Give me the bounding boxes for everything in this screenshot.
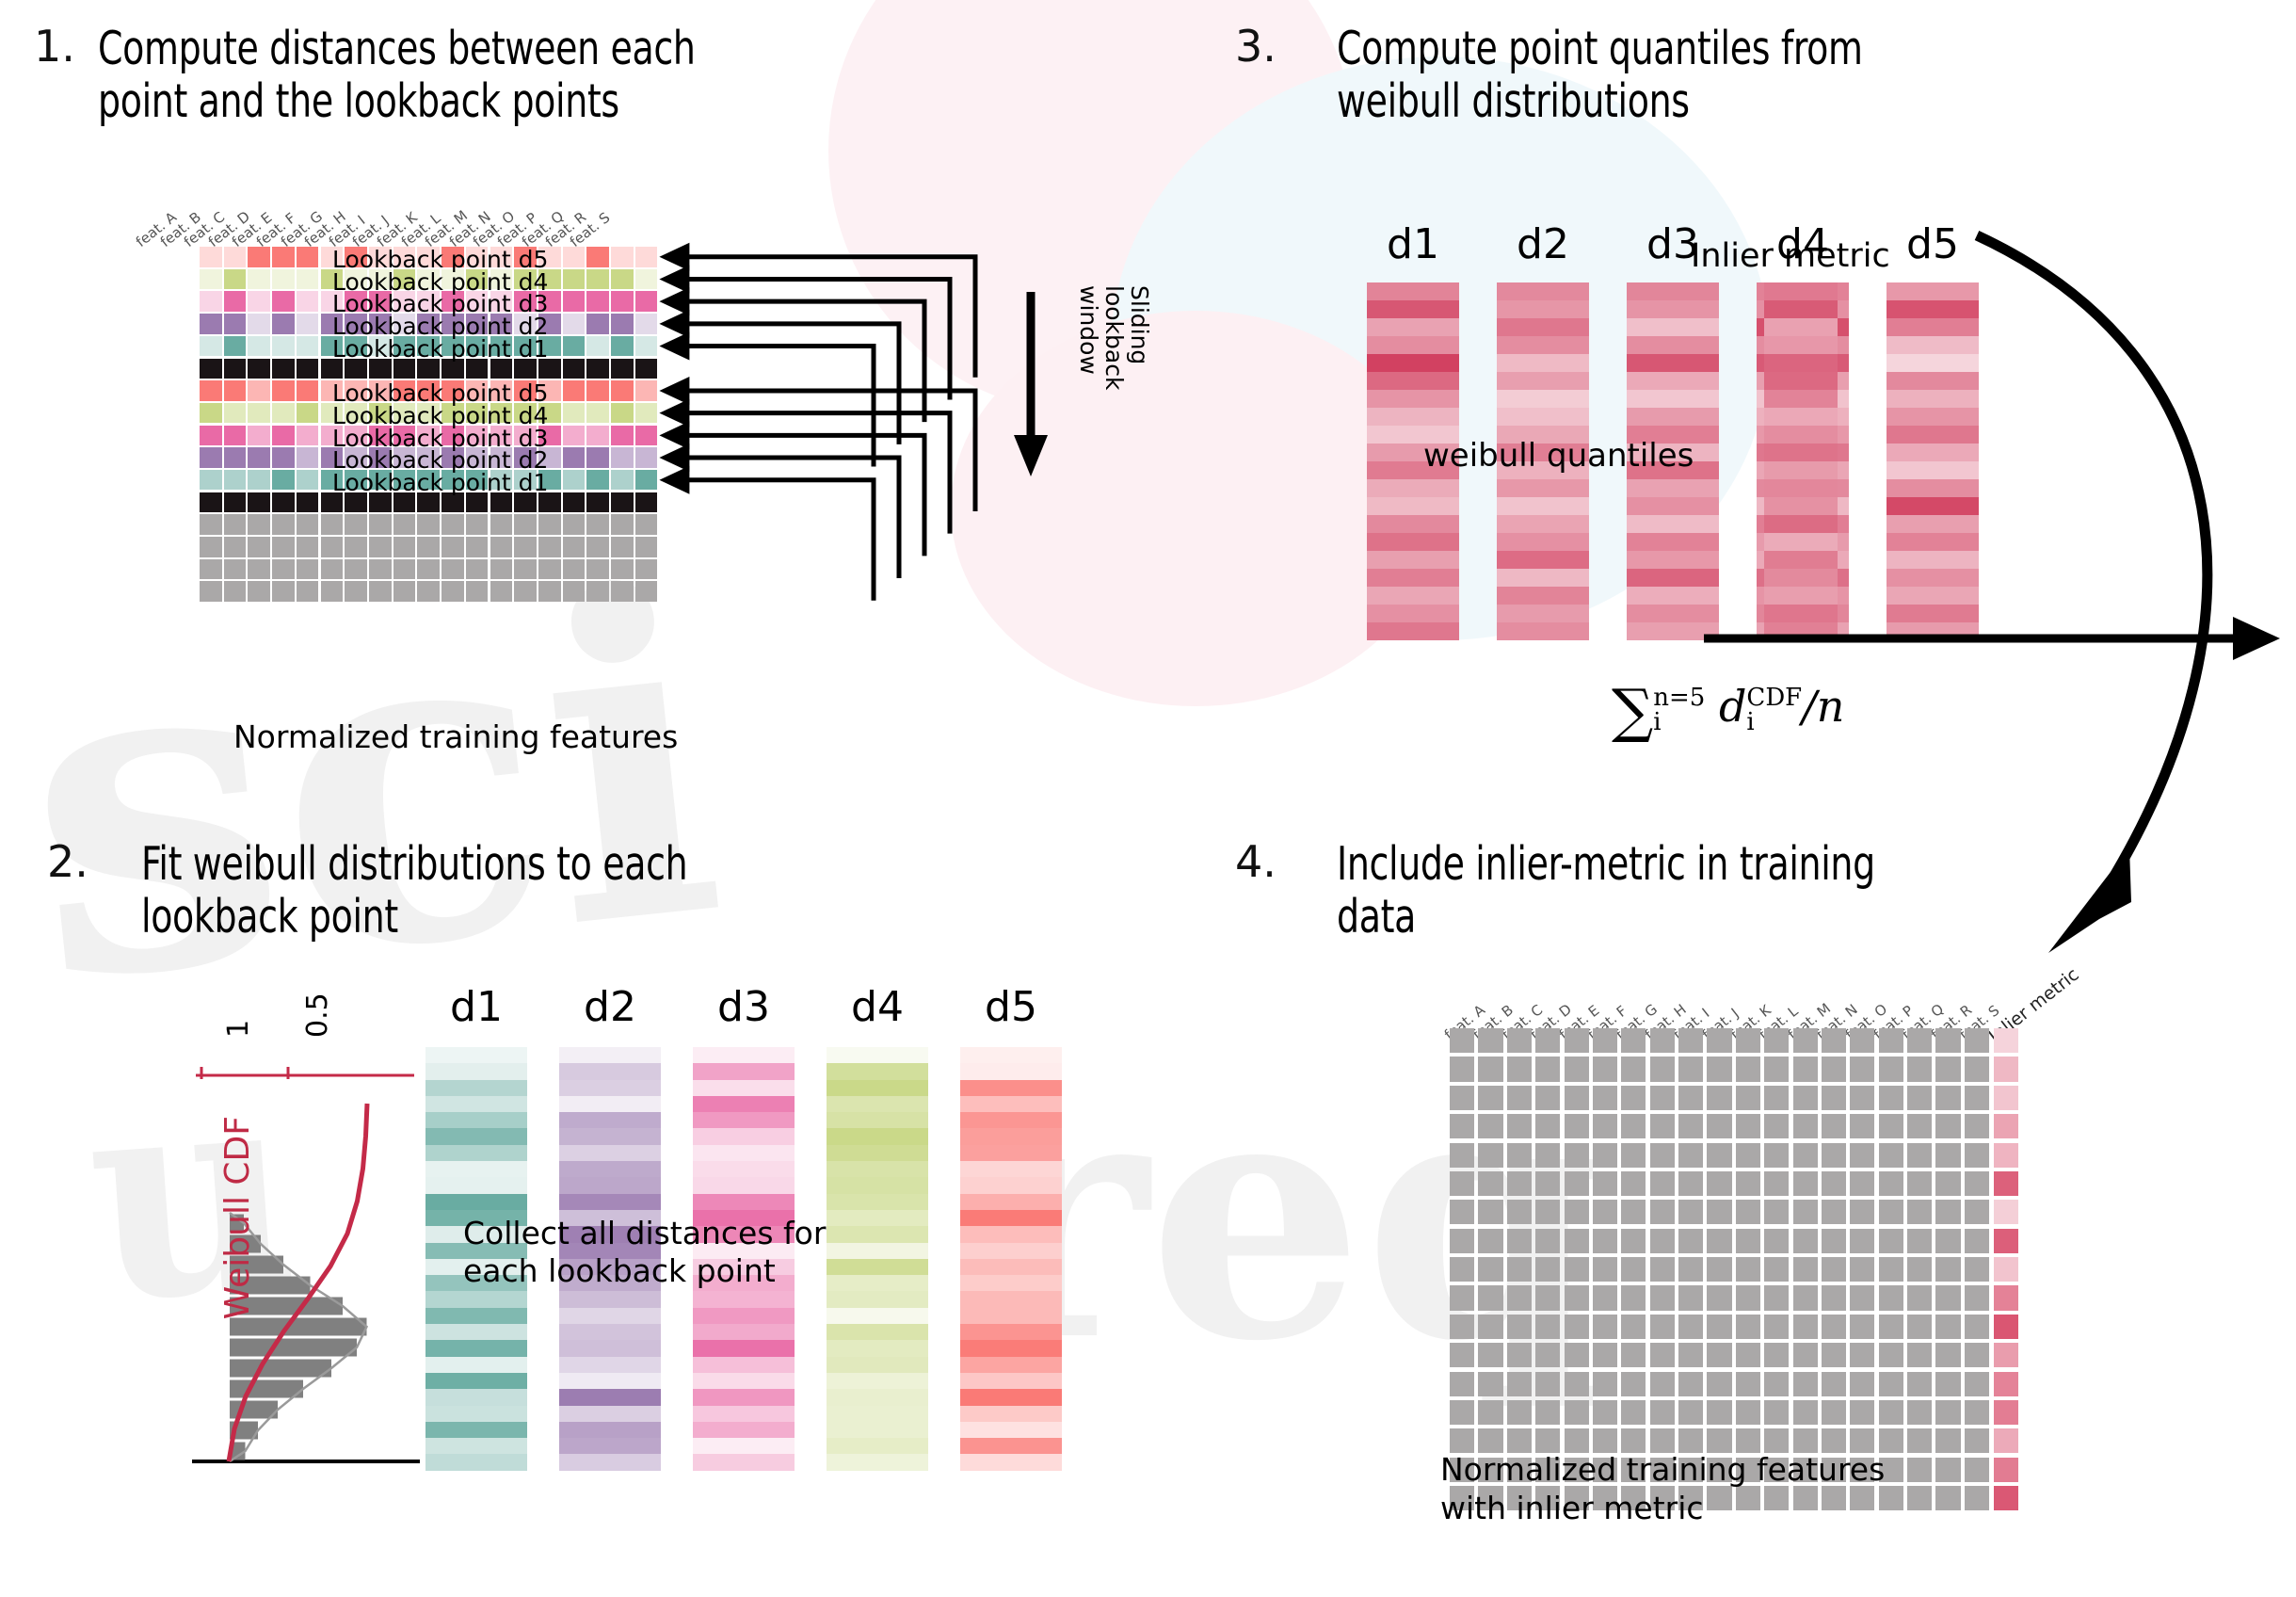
training-cell	[1736, 1143, 1760, 1168]
training-cell	[1565, 1372, 1589, 1396]
distance-bar	[960, 1291, 1062, 1307]
training-cell	[1593, 1400, 1617, 1425]
inlier-bar	[1764, 354, 1838, 372]
step-4-training-grid	[1450, 1028, 1989, 1510]
distance-bar	[693, 1177, 795, 1193]
grid-cell	[200, 447, 222, 468]
grid-cell	[248, 359, 270, 379]
grid-cell	[586, 581, 609, 602]
training-cell	[1764, 1229, 1789, 1253]
quantile-bar	[1367, 300, 1459, 318]
training-cell	[1621, 1143, 1646, 1168]
distance-bar	[827, 1145, 928, 1161]
training-cell	[1736, 1086, 1760, 1110]
distance-bar	[693, 1357, 795, 1373]
inlier-metric-cell	[1994, 1200, 2018, 1224]
training-cell	[1935, 1257, 1960, 1282]
histogram-bar	[230, 1380, 303, 1398]
training-cell	[1793, 1086, 1818, 1110]
step-3-title: Compute point quantiles from weibull dis…	[1337, 23, 2065, 128]
grid-cell	[248, 247, 270, 267]
training-cell	[1822, 1315, 1846, 1339]
training-cell	[1822, 1229, 1846, 1253]
training-cell	[1965, 1229, 1989, 1253]
training-cell	[1907, 1143, 1932, 1168]
distance-bar	[693, 1096, 795, 1112]
grid-cell	[611, 336, 634, 357]
grid-cell	[442, 559, 464, 580]
training-cell	[1907, 1315, 1932, 1339]
distance-bar	[693, 1406, 795, 1422]
training-cell	[1678, 1372, 1703, 1396]
training-cell	[1621, 1171, 1646, 1196]
training-cell	[1850, 1114, 1874, 1138]
distance-bar	[559, 1357, 661, 1373]
training-cell	[1965, 1086, 1989, 1110]
distance-bar	[693, 1112, 795, 1128]
distance-bar	[693, 1194, 795, 1210]
training-cell	[1565, 1257, 1589, 1282]
grid-cell	[345, 537, 367, 557]
quantile-bar	[1367, 318, 1459, 336]
training-cell	[1507, 1143, 1532, 1168]
training-cell	[1535, 1086, 1560, 1110]
training-cell	[1935, 1028, 1960, 1053]
histogram-bar	[230, 1318, 367, 1336]
grid-cell	[272, 269, 295, 290]
grid-cell	[611, 514, 634, 535]
sliding-window-arrow	[1012, 292, 1050, 480]
grid-cell	[224, 336, 247, 357]
training-cell	[1822, 1086, 1846, 1110]
distance-bar	[960, 1373, 1062, 1389]
grid-cell	[586, 559, 609, 580]
distance-bar	[559, 1406, 661, 1422]
distance-bar	[425, 1308, 527, 1324]
grid-cell	[611, 291, 634, 312]
training-cell	[1965, 1114, 1989, 1138]
training-cell	[1879, 1315, 1903, 1339]
training-cell	[1678, 1315, 1703, 1339]
training-cell	[1650, 1257, 1675, 1282]
training-cell	[1736, 1257, 1760, 1282]
quantile-bar	[1627, 300, 1719, 318]
distance-bar	[425, 1047, 527, 1063]
distance-bar	[827, 1210, 928, 1226]
distance-bar	[960, 1096, 1062, 1112]
training-cell	[1535, 1285, 1560, 1310]
quantile-bar	[1367, 372, 1459, 390]
training-cell	[1793, 1171, 1818, 1196]
lookback-arrow-top-1	[687, 279, 950, 399]
training-cell	[1907, 1200, 1932, 1224]
grid-cell	[586, 247, 609, 267]
training-cell	[1650, 1400, 1675, 1425]
distance-bar	[827, 1128, 928, 1144]
quantile-bar	[1497, 282, 1589, 300]
distance-bar	[827, 1047, 928, 1063]
training-cell	[1565, 1400, 1589, 1425]
distance-bar	[693, 1324, 795, 1340]
training-cell	[1907, 1257, 1932, 1282]
grid-cell	[514, 537, 537, 557]
grid-cell	[248, 380, 270, 401]
grid-cell	[272, 359, 295, 379]
training-cell	[1764, 1372, 1789, 1396]
distance-bar	[559, 1047, 661, 1063]
grid-cell	[514, 559, 537, 580]
grid-cell	[466, 537, 489, 557]
training-cell	[1678, 1285, 1703, 1310]
quantile-bar	[1497, 622, 1589, 640]
training-cell	[1621, 1086, 1646, 1110]
training-cell	[1793, 1200, 1818, 1224]
distance-bar	[559, 1096, 661, 1112]
training-cell	[1907, 1343, 1932, 1367]
quantile-bar	[1367, 569, 1459, 587]
distance-bar	[827, 1194, 928, 1210]
training-cell	[1793, 1343, 1818, 1367]
training-cell	[1822, 1114, 1846, 1138]
grid-cell	[224, 447, 247, 468]
training-cell	[1450, 1057, 1474, 1081]
training-cell	[1535, 1400, 1560, 1425]
training-cell	[1793, 1400, 1818, 1425]
training-cell	[1535, 1171, 1560, 1196]
inlier-metric-cell	[1994, 1114, 2018, 1138]
grid-cell	[369, 559, 392, 580]
distance-bar	[960, 1226, 1062, 1242]
training-cell	[1965, 1057, 1989, 1081]
training-cell	[1593, 1200, 1617, 1224]
grid-cell	[297, 470, 319, 491]
training-cell	[1650, 1285, 1675, 1310]
training-cell	[1793, 1372, 1818, 1396]
training-cell	[1478, 1285, 1502, 1310]
distance-bar	[559, 1112, 661, 1128]
distance-bar	[960, 1275, 1062, 1291]
training-cell	[1965, 1400, 1989, 1425]
training-cell	[1707, 1057, 1731, 1081]
cdf-tick-1: 1	[222, 1020, 255, 1038]
training-cell	[1707, 1372, 1731, 1396]
grid-cell	[297, 514, 319, 535]
training-cell	[1621, 1057, 1646, 1081]
grid-cell	[586, 291, 609, 312]
grid-cell	[200, 537, 222, 557]
grid-cell	[490, 514, 513, 535]
grid-cell	[611, 581, 634, 602]
quantile-bar	[1497, 605, 1589, 622]
step-1-title: Compute distances between each point and…	[98, 23, 746, 128]
training-cell	[1678, 1143, 1703, 1168]
grid-cell	[563, 559, 586, 580]
training-cell	[1450, 1372, 1474, 1396]
grid-cell	[200, 380, 222, 401]
step-2-header-d1: d1	[425, 983, 527, 1031]
grid-cell	[586, 447, 609, 468]
lookback-arrow-bottom-3	[687, 458, 899, 578]
training-cell	[1507, 1086, 1532, 1110]
training-cell	[1935, 1428, 1960, 1453]
grid-cell	[563, 269, 586, 290]
quantile-bar	[1497, 533, 1589, 551]
grid-cell	[224, 559, 247, 580]
distance-bar	[425, 1291, 527, 1307]
distance-bar	[693, 1340, 795, 1356]
training-cell	[1650, 1229, 1675, 1253]
training-cell	[1707, 1143, 1731, 1168]
grid-cell	[224, 403, 247, 424]
grid-cell	[224, 426, 247, 446]
training-cell	[1793, 1229, 1818, 1253]
training-cell	[1450, 1400, 1474, 1425]
step-1-remaining-rows	[200, 514, 657, 602]
training-cell	[1822, 1028, 1846, 1053]
grid-cell	[635, 403, 658, 424]
quantile-bar	[1367, 336, 1459, 354]
histogram-bar	[230, 1360, 331, 1378]
grid-cell	[417, 514, 440, 535]
training-cell	[1822, 1171, 1846, 1196]
quantile-bar	[1367, 390, 1459, 408]
grid-cell	[224, 314, 247, 334]
inlier-metric-cell	[1994, 1257, 2018, 1282]
training-cell	[1565, 1229, 1589, 1253]
grid-cell	[635, 514, 658, 535]
training-cell	[1764, 1028, 1789, 1053]
grid-cell	[248, 269, 270, 290]
training-cell	[1793, 1143, 1818, 1168]
training-cell	[1850, 1086, 1874, 1110]
training-cell	[1907, 1171, 1932, 1196]
training-cell	[1965, 1428, 1989, 1453]
grid-cell	[635, 559, 658, 580]
inlier-bar	[1764, 426, 1838, 444]
inlier-metric-cell	[1994, 1428, 2018, 1453]
inlier-bar	[1764, 318, 1838, 336]
training-cell	[1478, 1343, 1502, 1367]
distance-bar	[960, 1324, 1062, 1340]
distance-bar	[693, 1145, 795, 1161]
step-2-title: Fit weibull distributions to each lookba…	[141, 838, 805, 944]
training-cell	[1736, 1229, 1760, 1253]
training-cell	[1793, 1028, 1818, 1053]
training-cell	[1478, 1315, 1502, 1339]
quantile-bar	[1497, 336, 1589, 354]
distance-bar	[559, 1128, 661, 1144]
distance-bar	[827, 1177, 928, 1193]
grid-cell	[442, 537, 464, 557]
training-cell	[1450, 1315, 1474, 1339]
training-cell	[1965, 1343, 1989, 1367]
distance-bar	[827, 1096, 928, 1112]
distance-bar	[960, 1308, 1062, 1324]
grid-cell	[611, 380, 634, 401]
sliding-window-label: Sliding lookback window	[1076, 285, 1152, 390]
training-cell	[1535, 1143, 1560, 1168]
training-cell	[1650, 1028, 1675, 1053]
inlier-metric-strip	[1764, 282, 1838, 640]
training-cell	[1736, 1343, 1760, 1367]
grid-cell	[563, 447, 586, 468]
quantile-bar	[1497, 551, 1589, 569]
grid-cell	[248, 336, 270, 357]
distance-bar	[425, 1161, 527, 1177]
training-cell	[1507, 1229, 1532, 1253]
training-cell	[1621, 1372, 1646, 1396]
quantile-bar	[1627, 479, 1719, 497]
training-cell	[1565, 1285, 1589, 1310]
lookback-row-label-top-4: Lookback point d1	[332, 337, 548, 361]
lookback-arrow-top-1-head	[659, 265, 689, 293]
inlier-metric-cell	[1994, 1285, 2018, 1310]
quantile-bar	[1627, 515, 1719, 533]
grid-cell	[586, 537, 609, 557]
distance-bar	[960, 1340, 1062, 1356]
grid-cell	[490, 559, 513, 580]
quantile-bar	[1627, 318, 1719, 336]
training-cell	[1764, 1143, 1789, 1168]
grid-cell	[635, 291, 658, 312]
grid-cell	[297, 426, 319, 446]
grid-cell	[611, 559, 634, 580]
training-cell	[1707, 1086, 1731, 1110]
distance-bar	[559, 1454, 661, 1470]
training-cell	[1707, 1285, 1731, 1310]
distance-bar	[425, 1340, 527, 1356]
quantile-bar	[1627, 408, 1719, 426]
training-cell	[1793, 1114, 1818, 1138]
distance-bar	[960, 1389, 1062, 1405]
training-cell	[1850, 1200, 1874, 1224]
training-cell	[1822, 1400, 1846, 1425]
distance-bar	[425, 1096, 527, 1112]
grid-cell	[611, 426, 634, 446]
quantile-bar	[1497, 390, 1589, 408]
training-cell	[1678, 1229, 1703, 1253]
training-cell	[1650, 1057, 1675, 1081]
grid-cell	[466, 514, 489, 535]
distance-bar	[693, 1047, 795, 1063]
distance-bar	[693, 1291, 795, 1307]
training-cell	[1764, 1086, 1789, 1110]
grid-cell	[635, 492, 658, 513]
grid-cell	[297, 359, 319, 379]
grid-cell	[200, 247, 222, 267]
distance-bar	[425, 1112, 527, 1128]
formula-subscript: i	[1746, 710, 1802, 734]
training-cell	[1879, 1343, 1903, 1367]
training-cell	[1678, 1200, 1703, 1224]
lookback-arrow-bottom-4	[687, 480, 874, 601]
grid-cell	[538, 581, 561, 602]
grid-cell	[635, 537, 658, 557]
grid-cell	[200, 581, 222, 602]
training-cell	[1822, 1343, 1846, 1367]
grid-cell	[635, 247, 658, 267]
inlier-metric-cell	[1994, 1086, 2018, 1110]
training-cell	[1879, 1114, 1903, 1138]
grid-cell	[200, 514, 222, 535]
training-cell	[1736, 1315, 1760, 1339]
distance-bar	[559, 1389, 661, 1405]
inlier-bar	[1764, 300, 1838, 318]
distance-bar	[960, 1406, 1062, 1422]
grid-cell	[586, 403, 609, 424]
training-cell	[1736, 1372, 1760, 1396]
step-3-header-d2: d2	[1497, 220, 1589, 268]
training-cell	[1879, 1257, 1903, 1282]
inlier-bar	[1764, 372, 1838, 390]
grid-cell	[563, 403, 586, 424]
distance-bar	[827, 1340, 928, 1356]
training-cell	[1478, 1028, 1502, 1053]
step-4-number: 4.	[1235, 836, 1276, 887]
grid-cell	[563, 492, 586, 513]
distance-bar	[559, 1145, 661, 1161]
grid-cell	[635, 470, 658, 491]
training-cell	[1879, 1143, 1903, 1168]
inlier-metric-cell	[1994, 1486, 2018, 1510]
training-cell	[1822, 1143, 1846, 1168]
training-cell	[1736, 1057, 1760, 1081]
grid-cell	[272, 447, 295, 468]
training-cell	[1907, 1285, 1932, 1310]
grid-cell	[224, 247, 247, 267]
training-cell	[1935, 1458, 1960, 1482]
grid-cell	[635, 269, 658, 290]
training-cell	[1593, 1372, 1617, 1396]
training-cell	[1907, 1086, 1932, 1110]
grid-cell	[297, 336, 319, 357]
grid-cell	[611, 537, 634, 557]
grid-cell	[563, 380, 586, 401]
step-3-inlier-header: Inlier metric	[1691, 237, 1890, 275]
training-cell	[1507, 1028, 1532, 1053]
inlier-bar	[1764, 444, 1838, 461]
lookback-arrow-top-3	[687, 324, 899, 444]
quantile-bar	[1627, 497, 1719, 515]
training-cell	[1736, 1285, 1760, 1310]
lookback-arrow-top-0-head	[659, 243, 689, 271]
quantile-bar	[1367, 282, 1459, 300]
grid-cell	[224, 291, 247, 312]
training-cell	[1621, 1114, 1646, 1138]
grid-cell	[563, 514, 586, 535]
training-cell	[1593, 1028, 1617, 1053]
grid-cell	[417, 581, 440, 602]
grid-cell	[393, 537, 416, 557]
step-1-caption: Normalized training features	[233, 718, 678, 756]
training-cell	[1650, 1086, 1675, 1110]
grid-cell	[345, 514, 367, 535]
grid-cell	[563, 359, 586, 379]
grid-cell	[224, 470, 247, 491]
quantile-bar	[1497, 497, 1589, 515]
distance-bar	[693, 1373, 795, 1389]
training-cell	[1850, 1315, 1874, 1339]
distance-bar	[559, 1291, 661, 1307]
grid-cell	[200, 269, 222, 290]
training-cell	[1593, 1057, 1617, 1081]
training-cell	[1935, 1086, 1960, 1110]
training-cell	[1507, 1171, 1532, 1196]
distance-bar	[425, 1080, 527, 1096]
training-cell	[1935, 1171, 1960, 1196]
training-cell	[1450, 1028, 1474, 1053]
training-cell	[1450, 1200, 1474, 1224]
